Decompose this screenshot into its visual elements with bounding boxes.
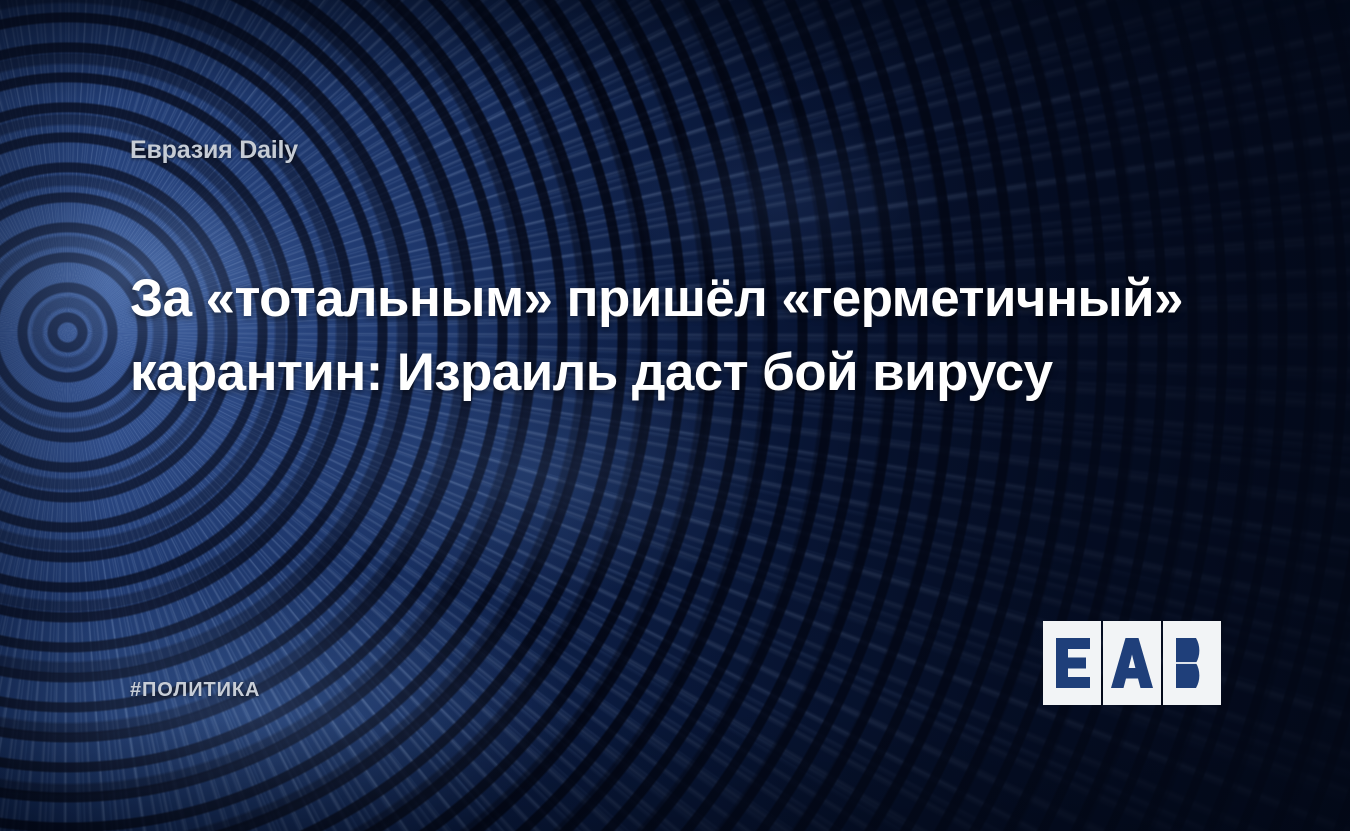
headline-line-1: За «тотальным» пришёл «герметичный» (130, 262, 1260, 336)
headline-line-2: карантин: Израиль даст бой вирусу (130, 336, 1260, 410)
letter-e-glyph (1043, 621, 1101, 705)
logo-tile-a (1103, 621, 1161, 705)
letter-d-glyph (1163, 621, 1221, 705)
social-share-card: Евразия Daily За «тотальным» пришёл «гер… (0, 0, 1350, 831)
card-content: Евразия Daily За «тотальным» пришёл «гер… (0, 0, 1350, 831)
logo-tile-e (1043, 621, 1101, 705)
site-name[interactable]: Евразия Daily (130, 136, 298, 165)
eadaily-logo[interactable] (1043, 621, 1223, 705)
article-headline[interactable]: За «тотальным» пришёл «герметичный» кара… (130, 262, 1260, 410)
category-tag[interactable]: #ПОЛИТИКА (130, 679, 260, 702)
logo-tile-d (1163, 621, 1221, 705)
letter-a-glyph (1103, 621, 1161, 705)
